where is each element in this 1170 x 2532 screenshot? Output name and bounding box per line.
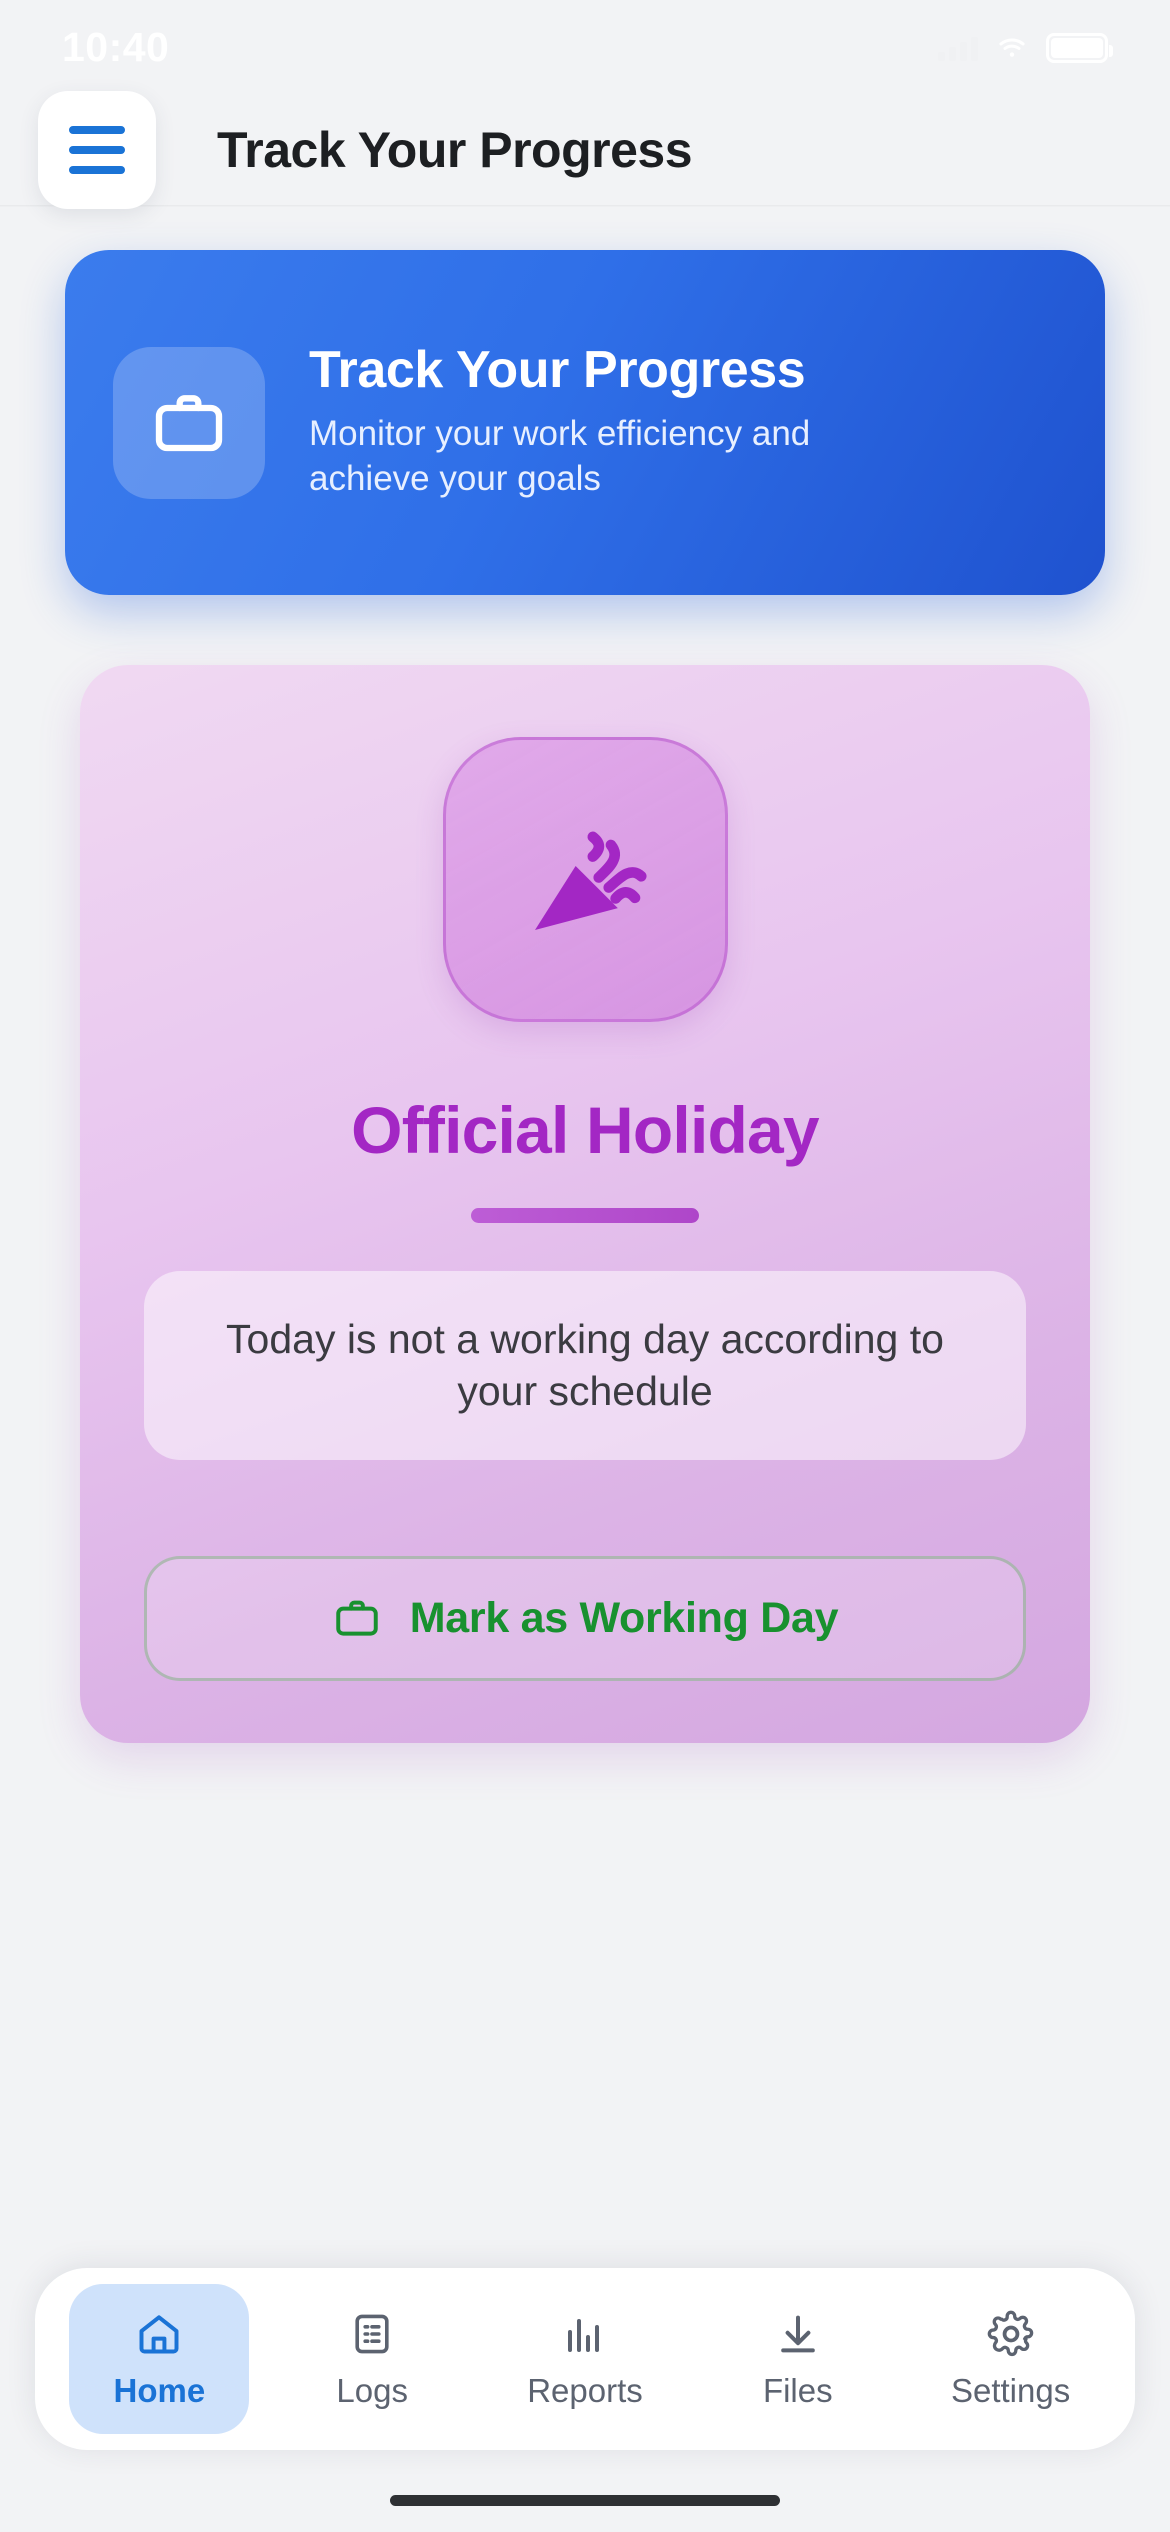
header-divider <box>0 205 1170 207</box>
main-content: Track Your Progress Monitor your work ef… <box>0 207 1170 2317</box>
tab-files-label: Files <box>763 2372 833 2410</box>
bottom-nav-area: Home Logs Reports <box>0 2317 1170 2532</box>
holiday-title: Official Holiday <box>351 1092 819 1168</box>
gear-icon <box>985 2308 1037 2360</box>
status-indicators <box>938 33 1108 63</box>
hamburger-menu-button[interactable] <box>30 95 175 205</box>
mark-as-working-day-label: Mark as Working Day <box>410 1594 838 1643</box>
briefcase-icon <box>113 347 265 499</box>
holiday-message: Today is not a working day according to … <box>144 1271 1026 1460</box>
tab-files[interactable]: Files <box>708 2284 888 2434</box>
app-header: Track Your Progress <box>0 95 1170 205</box>
document-list-icon <box>346 2308 398 2360</box>
signal-bars-icon <box>938 35 978 61</box>
home-icon <box>133 2308 185 2360</box>
holiday-card: Official Holiday Today is not a working … <box>80 665 1090 1743</box>
tab-home-label: Home <box>114 2372 206 2410</box>
tab-settings-label: Settings <box>951 2372 1070 2410</box>
battery-icon <box>1046 33 1108 63</box>
tab-logs[interactable]: Logs <box>282 2284 462 2434</box>
tab-home[interactable]: Home <box>69 2284 249 2434</box>
bar-chart-icon <box>559 2308 611 2360</box>
mark-as-working-day-button[interactable]: Mark as Working Day <box>144 1556 1026 1681</box>
banner-title: Track Your Progress <box>309 343 829 398</box>
page-title: Track Your Progress <box>217 121 692 179</box>
tab-reports[interactable]: Reports <box>495 2284 675 2434</box>
home-indicator <box>390 2495 780 2506</box>
hamburger-menu-icon <box>38 91 156 209</box>
progress-banner[interactable]: Track Your Progress Monitor your work ef… <box>65 250 1105 595</box>
status-time: 10:40 <box>62 24 169 71</box>
tab-logs-label: Logs <box>336 2372 408 2410</box>
wifi-icon <box>994 34 1030 62</box>
party-popper-icon <box>443 737 728 1022</box>
status-bar: 10:40 <box>0 0 1170 95</box>
holiday-divider <box>471 1208 699 1223</box>
tab-reports-label: Reports <box>527 2372 643 2410</box>
banner-subtitle: Monitor your work efficiency and achieve… <box>309 412 829 502</box>
briefcase-icon <box>332 1593 382 1643</box>
bottom-nav: Home Logs Reports <box>35 2268 1135 2450</box>
download-icon <box>772 2308 824 2360</box>
tab-settings[interactable]: Settings <box>921 2284 1101 2434</box>
